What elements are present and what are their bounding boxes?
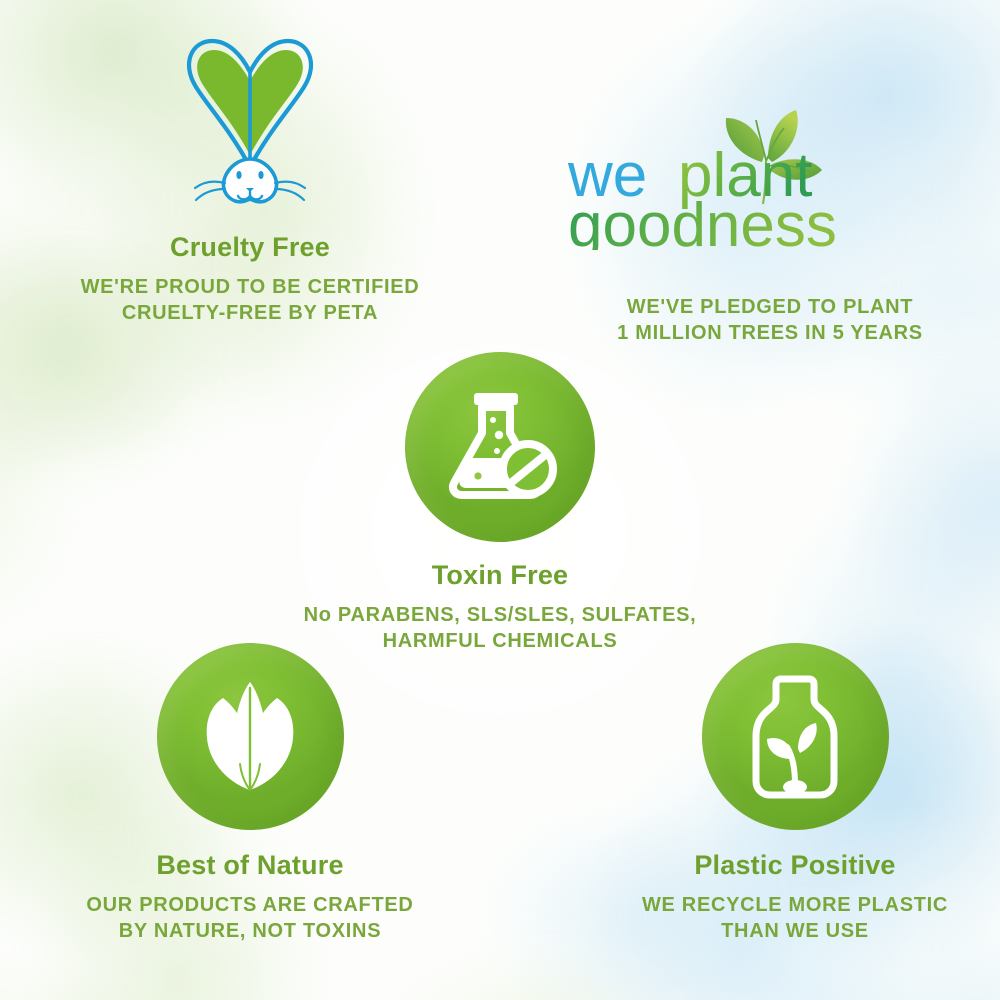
badge-cruelty-free: Cruelty Free WE'RE PROUD TO BE CERTIFIED… [40, 22, 460, 326]
best-of-nature-disc [157, 643, 344, 830]
badge-best-of-nature: Best of Nature OUR PRODUCTS ARE CRAFTED … [40, 643, 460, 944]
badge-title: Plastic Positive [585, 850, 1000, 881]
logo-word-goodness: goodness [568, 191, 837, 250]
bottle-sprout-icon [743, 673, 847, 801]
badge-title: Cruelty Free [40, 232, 460, 263]
badge-subtitle: WE'VE PLEDGED TO PLANT 1 MILLION TREES I… [560, 294, 980, 346]
badge-subtitle: WE'RE PROUD TO BE CERTIFIED CRUELTY-FREE… [40, 274, 460, 326]
badge-subtitle-line-2: 1 MILLION TREES IN 5 YEARS [560, 320, 980, 346]
plastic-positive-disc [702, 643, 889, 830]
promise-badges-canvas: Cruelty Free WE'RE PROUD TO BE CERTIFIED… [0, 0, 1000, 1000]
three-leaves-icon [189, 676, 311, 798]
badge-subtitle: WE RECYCLE MORE PLASTIC THAN WE USE [585, 892, 1000, 944]
badge-subtitle-line-2: BY NATURE, NOT TOXINS [40, 918, 460, 944]
peta-bunny-icon [40, 22, 460, 222]
flask-no-toxins-icon [440, 389, 560, 505]
badge-subtitle-line-1: WE'RE PROUD TO BE CERTIFIED [40, 274, 460, 300]
badge-subtitle-line-2: CRUELTY-FREE BY PETA [40, 300, 460, 326]
badge-title: Best of Nature [40, 850, 460, 881]
badge-plastic-positive: Plastic Positive WE RECYCLE MORE PLASTIC… [585, 643, 1000, 944]
badge-subtitle: OUR PRODUCTS ARE CRAFTED BY NATURE, NOT … [40, 892, 460, 944]
badge-subtitle-line-1: WE'VE PLEDGED TO PLANT [560, 294, 980, 320]
badge-we-plant-goodness: we plant goodness WE'VE PLEDGED TO PLANT… [560, 100, 980, 346]
we-plant-goodness-logo: we plant goodness [560, 100, 980, 250]
toxin-free-disc [405, 352, 595, 542]
badge-subtitle-line-1: No PARABENS, SLS/SLES, SULFATES, [290, 602, 710, 628]
badge-subtitle-line-1: OUR PRODUCTS ARE CRAFTED [40, 892, 460, 918]
badge-subtitle-line-1: WE RECYCLE MORE PLASTIC [585, 892, 1000, 918]
badge-toxin-free: Toxin Free No PARABENS, SLS/SLES, SULFAT… [290, 352, 710, 654]
badge-title: Toxin Free [290, 560, 710, 591]
badge-subtitle-line-2: THAN WE USE [585, 918, 1000, 944]
